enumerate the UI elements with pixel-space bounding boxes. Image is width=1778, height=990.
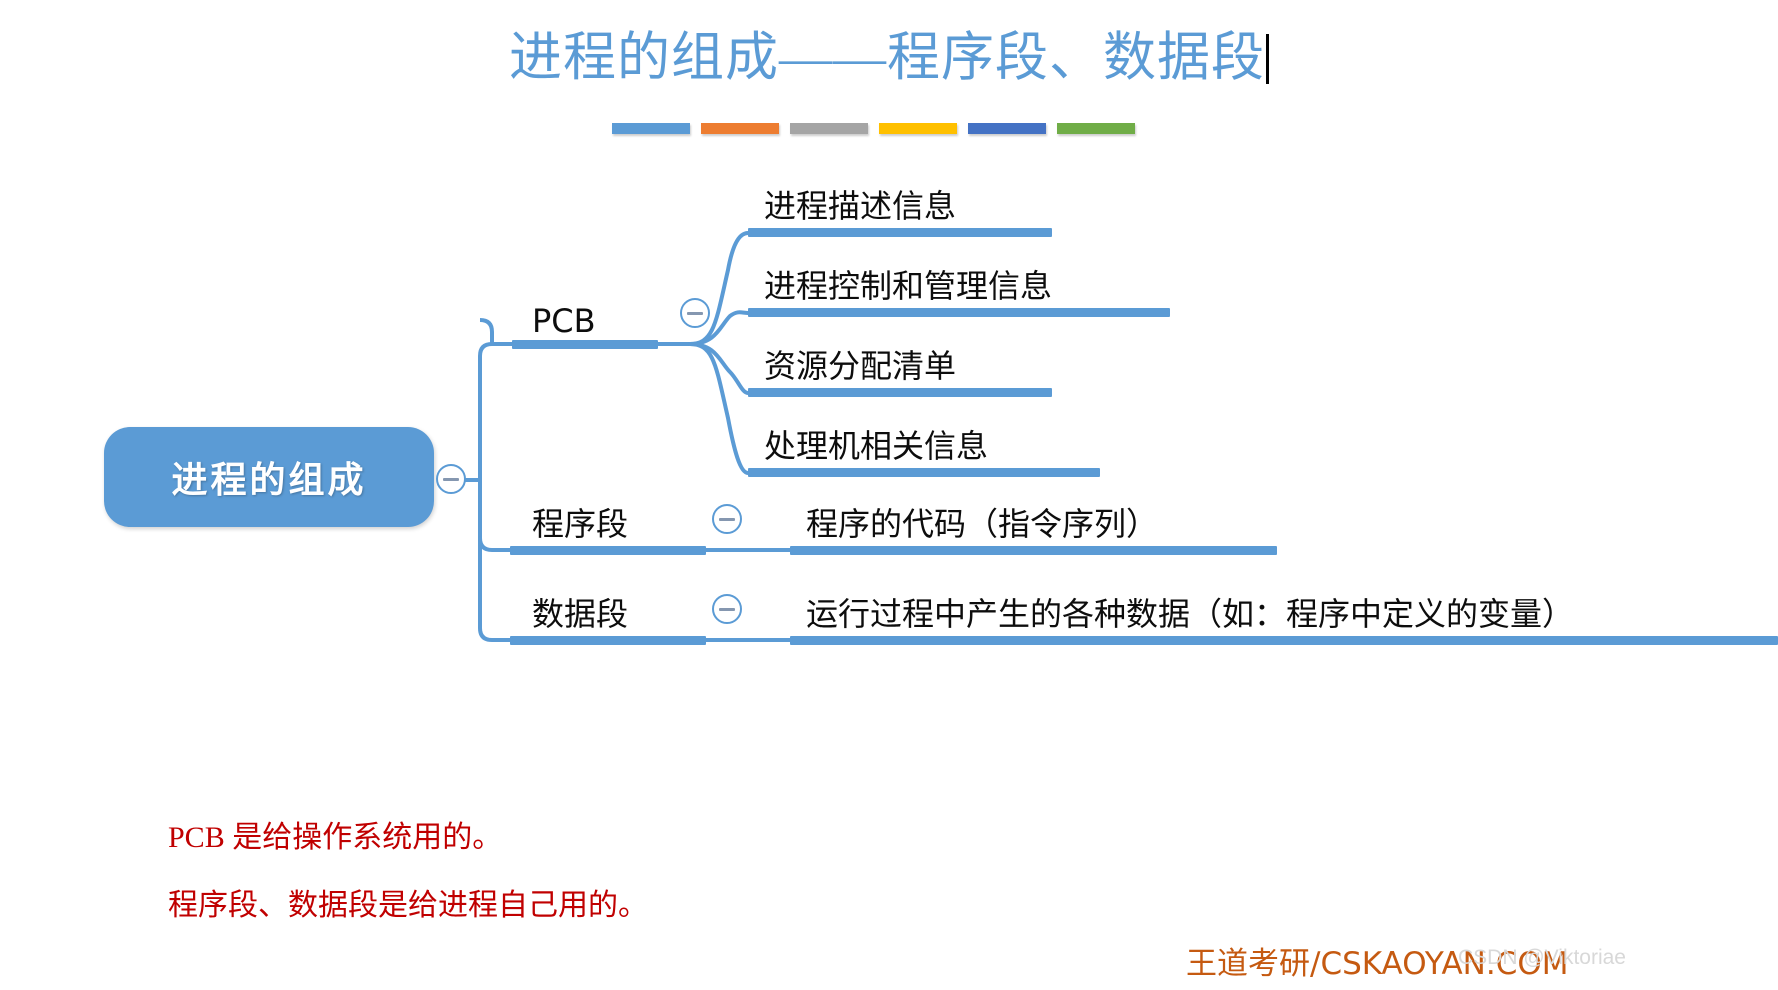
mindmap-node-process-description[interactable]: 进程描述信息 [764,190,956,222]
bar-yellow [879,123,957,134]
slide-canvas: 进程的组成——程序段、数据段 [0,0,1778,990]
bar-orange [701,123,779,134]
mindmap-node-data-segment[interactable]: 数据段 [532,598,628,630]
bar-green [1057,123,1135,134]
csdn-watermark: CSDN @Viktoriae [1458,946,1626,970]
collapse-toggle-icon-program-segment[interactable] [712,504,742,534]
mindmap-node-process-control[interactable]: 进程控制和管理信息 [764,270,1052,302]
decorative-color-bars [612,123,1135,134]
collapse-toggle-icon-root[interactable] [436,464,466,494]
bar-indigo [968,123,1046,134]
mindmap-node-pcb-label: PCB [532,305,596,337]
mindmap: 进程的组成 PCB 进程描述信息 进程控制和管理信息 资源分配清单 处理机相关信… [0,150,1778,670]
note-line-1: PCB 是给操作系统用的。 [168,812,502,856]
bar-blue [612,123,690,134]
mindmap-root-node[interactable]: 进程的组成 [104,427,434,527]
mindmap-root-label: 进程的组成 [171,451,366,503]
mindmap-node-process-control-label: 进程控制和管理信息 [764,270,1052,302]
mindmap-node-cpu-context-label: 处理机相关信息 [764,430,988,462]
mindmap-node-program-segment-label: 程序段 [532,508,628,540]
mindmap-node-pcb[interactable]: PCB [532,305,596,337]
mindmap-node-data-segment-label: 数据段 [532,598,628,630]
mindmap-node-resource-list-label: 资源分配清单 [764,350,956,382]
mindmap-node-program-code[interactable]: 程序的代码（指令序列） [806,508,1158,540]
bar-gray [790,123,868,134]
mindmap-node-runtime-data-label: 运行过程中产生的各种数据（如：程序中定义的变量） [806,598,1574,630]
title-block: 进程的组成——程序段、数据段 [0,26,1778,90]
mindmap-node-runtime-data[interactable]: 运行过程中产生的各种数据（如：程序中定义的变量） [806,598,1574,630]
mindmap-node-resource-list[interactable]: 资源分配清单 [764,350,956,382]
mindmap-connectors [0,150,1778,670]
collapse-toggle-icon-data-segment[interactable] [712,594,742,624]
node-underline-bars [510,228,1778,645]
note-line-2: 程序段、数据段是给进程自己用的。 [168,880,648,924]
collapse-toggle-icon-pcb[interactable] [680,298,710,328]
mindmap-node-program-segment[interactable]: 程序段 [532,508,628,540]
mindmap-node-cpu-context[interactable]: 处理机相关信息 [764,430,988,462]
mindmap-node-process-description-label: 进程描述信息 [764,190,956,222]
text-caret [1266,34,1269,84]
mindmap-node-program-code-label: 程序的代码（指令序列） [806,508,1158,540]
page-title: 进程的组成——程序段、数据段 [509,26,1265,90]
